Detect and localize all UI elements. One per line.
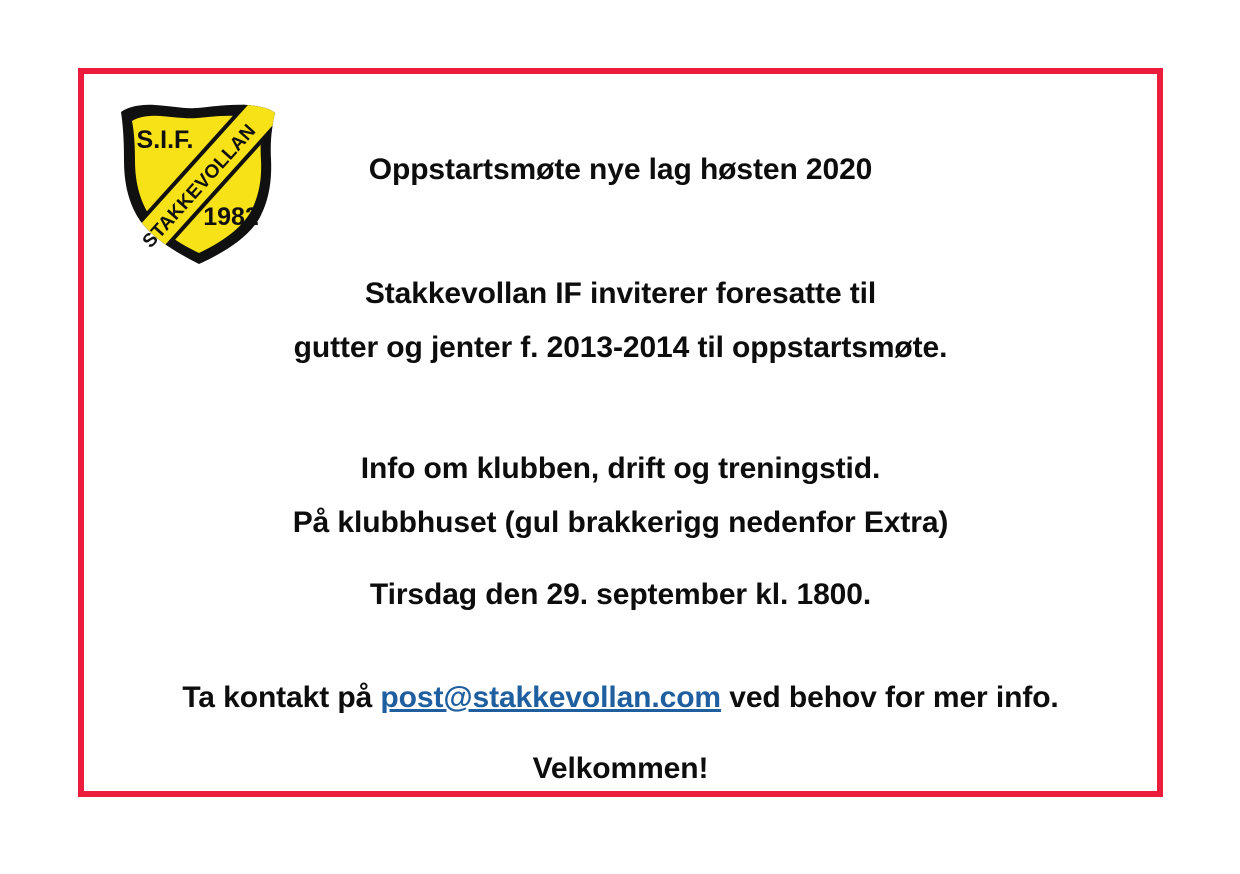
poster-card: STAKKEVOLLAN S.I.F. 1982 Oppstartsmøte n… — [78, 68, 1163, 797]
poster-title: Oppstartsmøte nye lag høsten 2020 — [84, 153, 1157, 187]
contact-text-before: Ta kontakt på — [182, 681, 380, 714]
poster-root: STAKKEVOLLAN S.I.F. 1982 Oppstartsmøte n… — [0, 0, 1240, 874]
welcome-line: Velkommen! — [84, 752, 1157, 786]
contact-text-after: ved behov for mer info. — [721, 681, 1059, 714]
invite-line-1: Stakkevollan IF inviterer foresatte til — [84, 277, 1157, 311]
datetime-line: Tirsdag den 29. september kl. 1800. — [84, 578, 1157, 612]
place-line: På klubbhuset (gul brakkerigg nedenfor E… — [84, 506, 1157, 540]
contact-line: Ta kontakt på post@stakkevollan.com ved … — [84, 681, 1157, 715]
info-line: Info om klubben, drift og treningstid. — [84, 452, 1157, 486]
invite-line-2: gutter og jenter f. 2013-2014 til oppsta… — [84, 331, 1157, 365]
contact-email-link[interactable]: post@stakkevollan.com — [380, 681, 721, 714]
poster-text-body: Oppstartsmøte nye lag høsten 2020 Stakke… — [84, 74, 1157, 791]
